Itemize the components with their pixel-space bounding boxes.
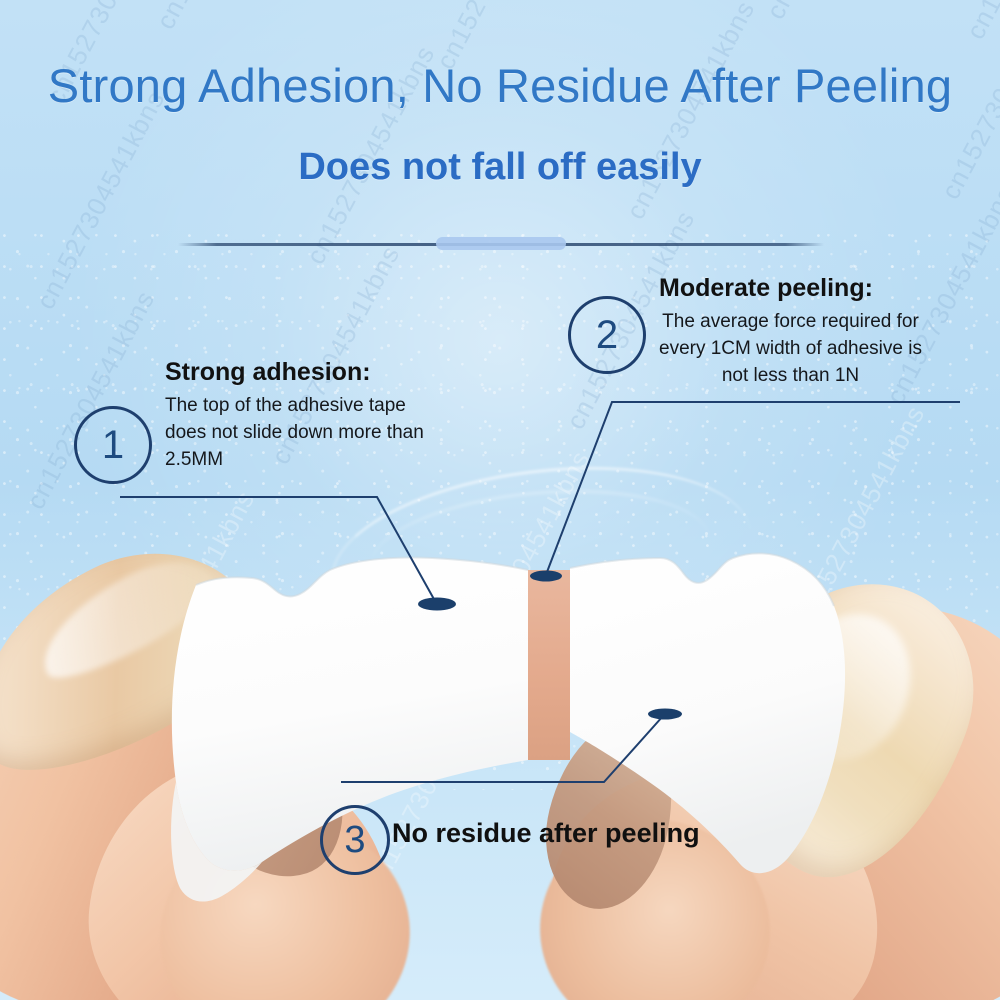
callout-1-body: The top of the adhesive tape does not sl… bbox=[165, 393, 424, 474]
leader-dot-3 bbox=[648, 709, 682, 720]
callout-number-3: 3 bbox=[320, 805, 390, 875]
leader-line-3 bbox=[341, 716, 663, 782]
callout-3: No residue after peeling bbox=[392, 818, 700, 849]
leader-line-2 bbox=[547, 402, 960, 572]
callout-number-2: 2 bbox=[568, 296, 646, 374]
callout-2: Moderate peeling: The average force requ… bbox=[659, 274, 922, 390]
callout-number-1: 1 bbox=[74, 406, 152, 484]
callout-1-body-line-2: does not slide down more than bbox=[165, 420, 424, 447]
callout-2-title: Moderate peeling: bbox=[659, 274, 922, 303]
callout-2-body-line-1: The average force required for bbox=[659, 309, 922, 336]
leader-dot-2 bbox=[530, 571, 562, 582]
callout-1-title: Strong adhesion: bbox=[165, 358, 424, 387]
leader-dot-1 bbox=[418, 598, 456, 611]
callout-1: Strong adhesion: The top of the adhesive… bbox=[165, 358, 424, 474]
callout-2-body-line-2: every 1CM width of adhesive is bbox=[659, 336, 922, 363]
leader-lines bbox=[0, 0, 1000, 1000]
leader-line-1 bbox=[120, 497, 435, 601]
callout-1-body-line-1: The top of the adhesive tape bbox=[165, 393, 424, 420]
product-infographic: cn1527304541kbnscn1527304541kbnscn152730… bbox=[0, 0, 1000, 1000]
callout-1-body-line-3: 2.5MM bbox=[165, 447, 424, 474]
callout-2-body: The average force required for every 1CM… bbox=[659, 309, 922, 390]
callout-2-body-line-3: not less than 1N bbox=[659, 363, 922, 390]
callout-3-title: No residue after peeling bbox=[392, 818, 700, 848]
